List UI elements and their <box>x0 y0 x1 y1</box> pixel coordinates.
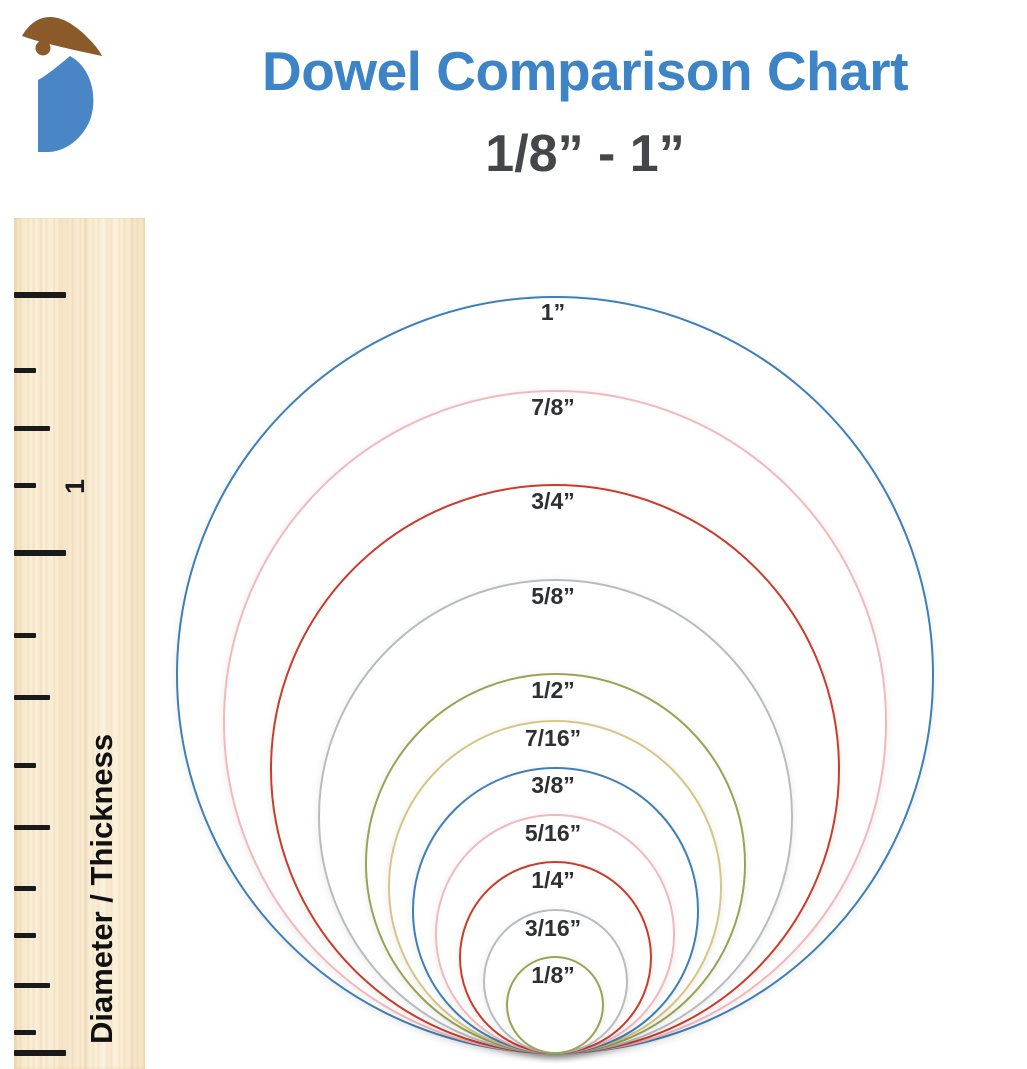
dowel-size-label: 3/16” <box>525 915 581 942</box>
dowel-comparison-chart-page: Dowel Comparison Chart 1/8” - 1” 1 Diame… <box>0 0 1027 1069</box>
dowel-size-label: 1/2” <box>531 677 574 704</box>
dowel-size-label: 1/4” <box>531 867 574 894</box>
dowel-size-label: 5/16” <box>525 820 581 847</box>
dowel-size-label: 3/8” <box>531 772 574 799</box>
dowel-size-label: 7/16” <box>525 725 581 752</box>
dowel-circle-group: 1”7/8”3/4”5/8”1/2”7/16”3/8”5/16”1/4”3/16… <box>0 0 1027 1069</box>
dowel-size-label: 1/8” <box>531 962 574 989</box>
dowel-size-label: 3/4” <box>531 488 574 515</box>
dowel-size-label: 5/8” <box>531 583 574 610</box>
dowel-size-label: 1” <box>541 299 565 326</box>
dowel-size-label: 7/8” <box>531 394 574 421</box>
